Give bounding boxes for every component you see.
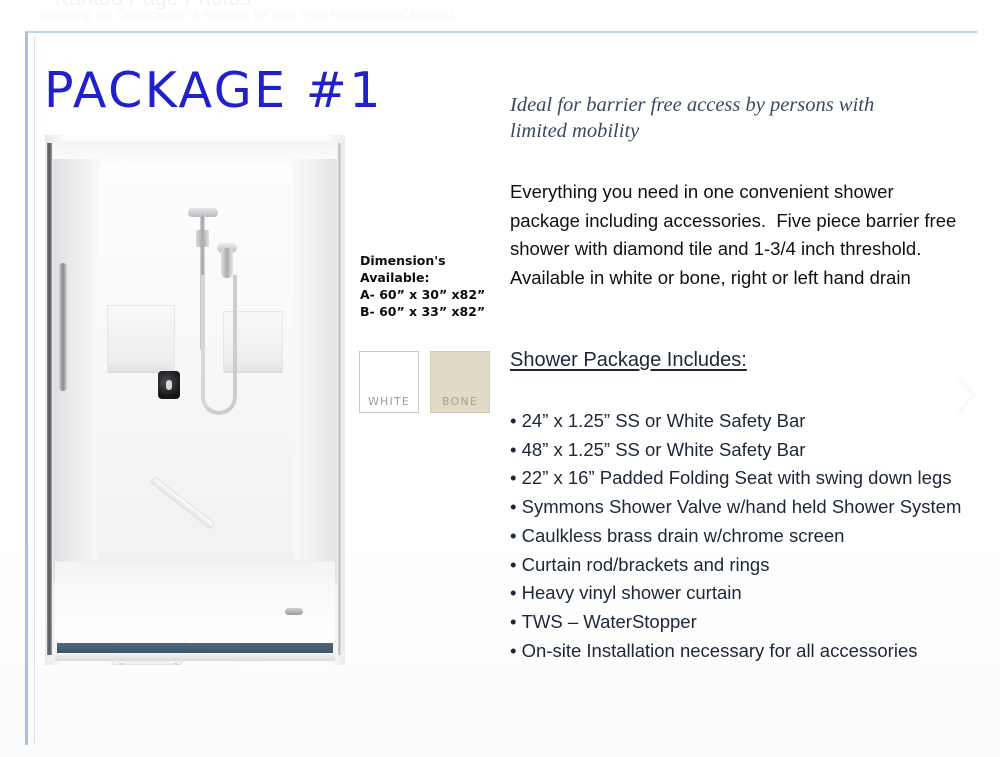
color-swatch-white-label: WHITE [368,395,410,408]
list-item: 48” x 1.25” SS or White Safety Bar [510,436,970,465]
list-item: TWS – WaterStopper [510,608,970,637]
photo-base-edge [55,654,335,661]
color-swatch-bone[interactable]: BONE [430,351,490,413]
shower-threshold [57,643,333,653]
dimensions-block: Dimension's Available: A- 60” x 30” x82”… [360,252,500,320]
shower-valve-control [158,371,180,399]
shower-right-jamb [338,143,341,655]
folding-seat-leg-right [173,663,177,665]
dimensions-line-2: Available: [360,269,500,286]
shower-slide-bracket [196,230,209,247]
vertical-grab-bar [59,263,67,391]
list-item: On-site Installation necessary for all a… [510,637,970,666]
shower-drain-icon [285,608,303,615]
shower-floor-pan [55,561,335,641]
list-item: Curtain rod/brackets and rings [510,551,970,580]
lede-text: Ideal for barrier free access by persons… [510,92,930,144]
color-swatch-white[interactable]: WHITE [359,351,419,413]
color-swatch-group: WHITE BONE [359,351,490,413]
shower-hose [201,275,237,415]
list-item: Symmons Shower Valve w/hand held Shower … [510,493,970,522]
list-item: Caulkless brass drain w/chrome screen [510,522,970,551]
shower-left-jamb [47,143,52,655]
folding-seat-leg-left [119,663,123,665]
description-paragraph: Everything you need in one convenient sh… [510,178,962,292]
color-swatch-bone-label: BONE [442,395,478,408]
clipped-page-header: Kahtoo Page Photos including the Constru… [0,0,1000,30]
list-item: Heavy vinyl shower curtain [510,579,970,608]
shower-hand-wand [221,248,233,278]
shower-shelf-left [107,305,175,373]
dimensions-option-a: A- 60” x 30” x82” [360,286,500,303]
next-slide-button[interactable] [950,372,982,418]
clipped-page-subheading: including the Construction & Housing for… [42,8,453,22]
shower-right-wall [289,159,337,583]
slide-stage: Kahtoo Page Photos including the Constru… [0,0,1000,757]
includes-heading: Shower Package Includes: [510,349,747,372]
list-item: 24” x 1.25” SS or White Safety Bar [510,407,970,436]
dimensions-line-1: Dimension's [360,252,500,269]
includes-list: 24” x 1.25” SS or White Safety Bar 48” x… [510,407,970,665]
shower-product-photo [45,135,345,665]
chevron-right-icon [950,372,982,418]
page-title: PACKAGE #1 [44,62,383,119]
dimensions-option-b: B- 60” x 33” x82” [360,303,500,320]
list-item: 22” x 16” Padded Folding Seat with swing… [510,464,970,493]
